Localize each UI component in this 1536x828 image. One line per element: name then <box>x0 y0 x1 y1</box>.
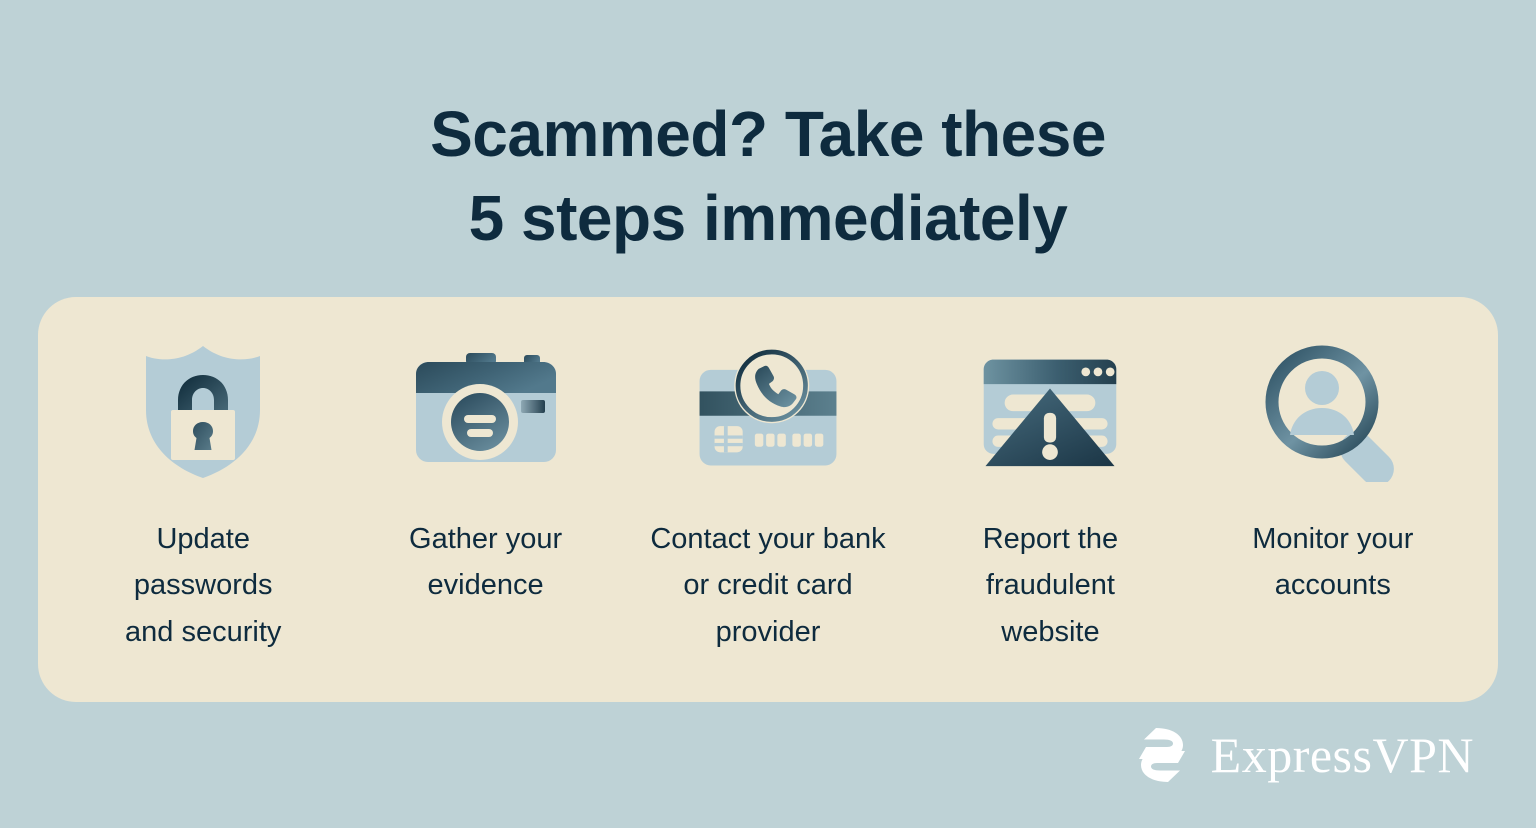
expressvpn-logo-mark-icon <box>1131 726 1193 784</box>
expressvpn-logo: ExpressVPN <box>1131 726 1474 784</box>
step-report-website: Report the fraudulent website <box>909 342 1191 655</box>
shield-lock-icon <box>128 342 278 482</box>
title-line-1: Scammed? Take these <box>0 92 1536 176</box>
magnifier-person-icon <box>1258 342 1408 482</box>
steps-row: Update passwords and security <box>38 297 1498 702</box>
infographic-canvas: Scammed? Take these 5 steps immediately <box>0 0 1536 828</box>
step-update-passwords: Update passwords and security <box>62 342 344 655</box>
title-line-2: 5 steps immediately <box>0 176 1536 260</box>
credit-card-phone-icon <box>693 342 843 482</box>
credit-card-phone-icon-svg <box>693 342 843 482</box>
step-monitor-accounts: Monitor your accounts <box>1192 342 1474 609</box>
step-contact-bank: Contact your bank or credit card provide… <box>627 342 909 655</box>
magnifier-person-icon-svg <box>1258 342 1408 482</box>
camera-icon-svg <box>411 349 561 475</box>
step-label: Gather your evidence <box>409 516 562 609</box>
camera-icon <box>411 342 561 482</box>
browser-warning-icon-svg <box>975 347 1125 477</box>
shield-lock-icon-svg <box>138 342 268 482</box>
step-gather-evidence: Gather your evidence <box>344 342 626 609</box>
page-title: Scammed? Take these 5 steps immediately <box>0 92 1536 261</box>
browser-warning-icon <box>975 342 1125 482</box>
step-label: Update passwords and security <box>125 516 281 655</box>
step-label: Report the fraudulent website <box>983 516 1118 655</box>
step-label: Contact your bank or credit card provide… <box>650 516 885 655</box>
steps-card: Update passwords and security <box>38 297 1498 702</box>
step-label: Monitor your accounts <box>1252 516 1413 609</box>
logo-text: ExpressVPN <box>1211 730 1474 780</box>
